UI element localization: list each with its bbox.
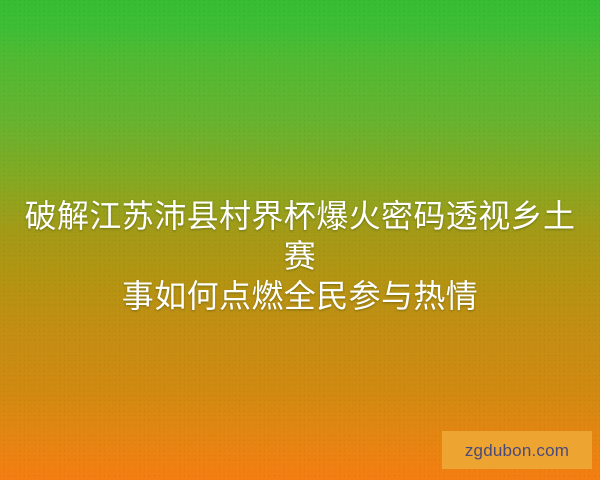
headline-title: 破解江苏沛县村界杯爆火密码透视乡土赛 事如何点燃全民参与热情 <box>0 196 600 316</box>
cover-image-canvas: 破解江苏沛县村界杯爆火密码透视乡土赛 事如何点燃全民参与热情 zgdubon.c… <box>0 0 600 480</box>
watermark-plate: zgdubon.com <box>442 431 592 469</box>
watermark-site-label: zgdubon.com <box>465 442 569 459</box>
